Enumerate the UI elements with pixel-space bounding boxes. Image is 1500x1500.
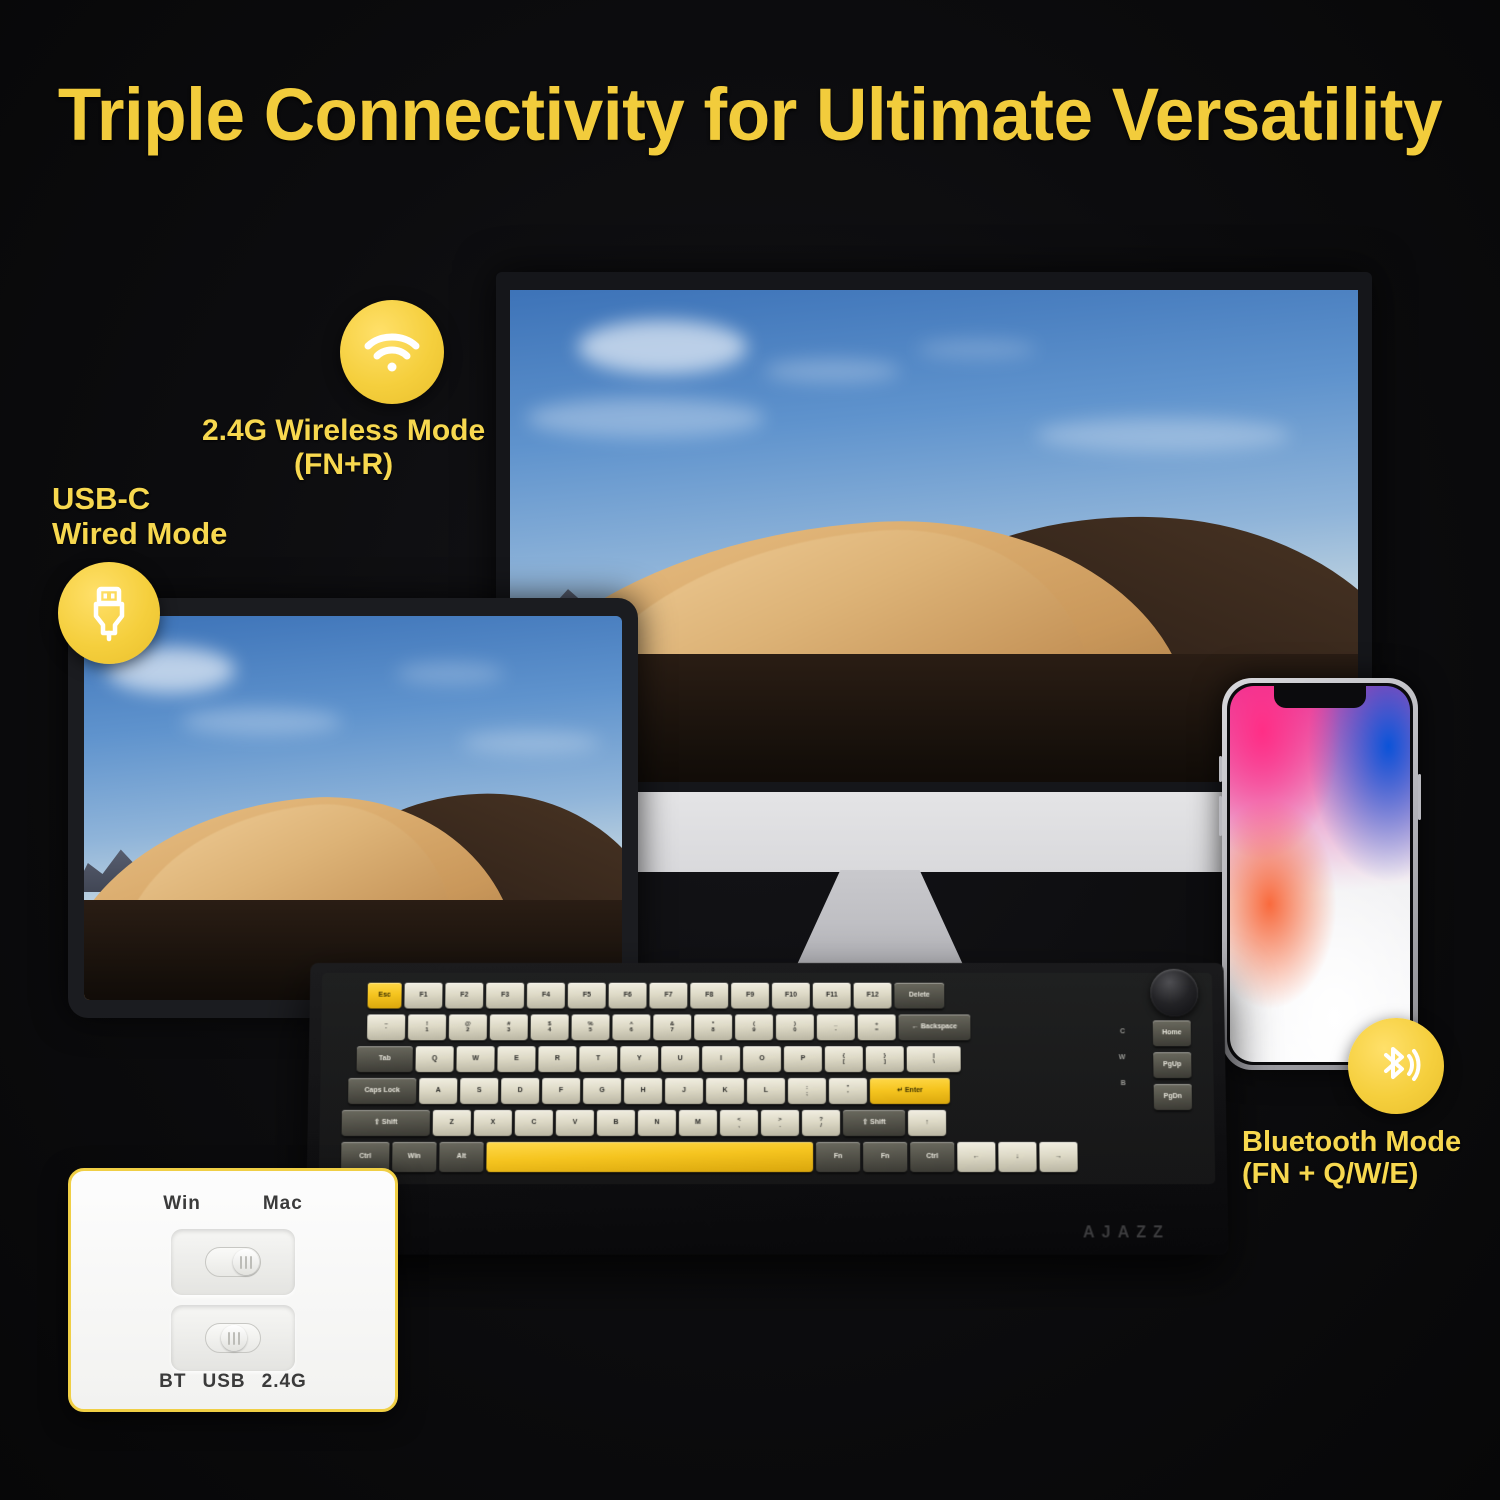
- phone-volume-up-button: [1219, 756, 1222, 782]
- phone-volume-down-button: [1219, 796, 1222, 836]
- bluetooth-mode-label: Bluetooth Mode (FN + Q/W/E): [1242, 1126, 1461, 1191]
- key-key[interactable]: _-: [817, 1014, 855, 1040]
- keyboard-brand-logo: AJAZZ: [1083, 1224, 1170, 1242]
- key-key[interactable]: →: [1039, 1142, 1077, 1172]
- key-q[interactable]: Q: [415, 1046, 453, 1072]
- connection-switch-slot: [205, 1323, 261, 1353]
- key-shift[interactable]: ⇧ Shift: [342, 1110, 430, 1136]
- infographic-canvas: Triple Connectivity for Ultimate Versati…: [0, 0, 1500, 1500]
- key-l[interactable]: L: [747, 1078, 785, 1104]
- keyboard-row-qwerty-row: TabQWERTYUIOP{[}]|\: [357, 1046, 961, 1072]
- key-f3[interactable]: F3: [486, 983, 524, 1009]
- key-key[interactable]: ↑: [908, 1110, 946, 1136]
- g24-label: 2.4G: [262, 1371, 307, 1393]
- key-f2[interactable]: F2: [445, 983, 483, 1009]
- key-key[interactable]: ~`: [367, 1014, 405, 1040]
- key-key[interactable]: }]: [866, 1046, 904, 1072]
- key-r[interactable]: R: [538, 1046, 576, 1072]
- key-j[interactable]: J: [665, 1078, 703, 1104]
- key-8[interactable]: *8: [694, 1014, 732, 1040]
- keyboard-row-function-row: EscF1F2F3F4F5F6F7F8F9F10F11F12Delete: [367, 983, 944, 1009]
- tablet: [68, 598, 638, 1018]
- win-label: Win: [163, 1193, 201, 1215]
- key-f6[interactable]: F6: [609, 983, 647, 1009]
- key-alt[interactable]: Alt: [439, 1142, 483, 1172]
- key-g[interactable]: G: [583, 1078, 621, 1104]
- phone-frame: [1222, 678, 1418, 1070]
- tablet-screen: [84, 616, 622, 1000]
- page-title: Triple Connectivity for Ultimate Versati…: [30, 72, 1470, 157]
- key-v[interactable]: V: [556, 1110, 594, 1136]
- key-f4[interactable]: F4: [527, 983, 565, 1009]
- keyboard-row-home-row: Caps LockASDFGHJKL:;"'↵ Enter: [348, 1078, 950, 1104]
- key-key[interactable]: ↓: [998, 1142, 1036, 1172]
- key-t[interactable]: T: [579, 1046, 617, 1072]
- key-9[interactable]: (9: [735, 1014, 773, 1040]
- key-f5[interactable]: F5: [568, 983, 606, 1009]
- key-0[interactable]: )0: [776, 1014, 814, 1040]
- wifi-mode-label: 2.4G Wireless Mode (FN+R): [202, 414, 485, 481]
- key-e[interactable]: E: [497, 1046, 535, 1072]
- keyboard-base: C W B AJAZZ EscF1F2F3F4F5F6F7F8F9F10F11F…: [305, 963, 1228, 1255]
- key-f7[interactable]: F7: [649, 983, 687, 1009]
- key-i[interactable]: I: [702, 1046, 740, 1072]
- key-key[interactable]: :;: [788, 1078, 826, 1104]
- key-h[interactable]: H: [624, 1078, 662, 1104]
- key-space[interactable]: [486, 1142, 813, 1172]
- bluetooth-icon: [1348, 1018, 1444, 1114]
- key-f12[interactable]: F12: [854, 983, 892, 1009]
- phone-power-button: [1418, 774, 1421, 820]
- connection-switch-nub[interactable]: [221, 1325, 247, 1351]
- connection-switch-captions: BT USB 2.4G: [71, 1371, 395, 1393]
- key-key[interactable]: ←: [957, 1142, 995, 1172]
- key-key[interactable]: {[: [825, 1046, 863, 1072]
- key-3[interactable]: #3: [490, 1014, 528, 1040]
- smartphone: [1222, 678, 1418, 1070]
- key-key[interactable]: <,: [720, 1110, 758, 1136]
- usbc-mode-label: USB-C Wired Mode: [52, 482, 227, 551]
- key-win[interactable]: Win: [392, 1142, 436, 1172]
- os-switch[interactable]: [171, 1229, 295, 1295]
- key-f8[interactable]: F8: [690, 983, 728, 1009]
- os-switch-captions: Win Mac: [71, 1193, 395, 1215]
- key-y[interactable]: Y: [620, 1046, 658, 1072]
- key-b[interactable]: B: [597, 1110, 635, 1136]
- key-2[interactable]: @2: [449, 1014, 487, 1040]
- key-a[interactable]: A: [419, 1078, 457, 1104]
- keyboard-row-bottom-row: CtrlWinAltFnFnCtrl←↓→: [341, 1142, 1078, 1172]
- key-pgdn[interactable]: PgDn: [1154, 1084, 1192, 1110]
- mojave-wallpaper: [84, 616, 622, 1000]
- key-caps-lock[interactable]: Caps Lock: [348, 1078, 416, 1104]
- key-d[interactable]: D: [501, 1078, 539, 1104]
- key-f11[interactable]: F11: [813, 983, 851, 1009]
- key-z[interactable]: Z: [433, 1110, 471, 1136]
- key-enter[interactable]: ↵ Enter: [870, 1078, 950, 1104]
- key-ctrl[interactable]: Ctrl: [910, 1142, 954, 1172]
- key-o[interactable]: O: [743, 1046, 781, 1072]
- usb-label: USB: [203, 1371, 246, 1393]
- key-p[interactable]: P: [784, 1046, 822, 1072]
- phone-notch: [1274, 686, 1366, 708]
- key-m[interactable]: M: [679, 1110, 717, 1136]
- key-delete[interactable]: Delete: [894, 983, 944, 1009]
- key-4[interactable]: $4: [531, 1014, 569, 1040]
- led-indicator-b: B: [1121, 1080, 1126, 1087]
- key-key[interactable]: |\: [907, 1046, 961, 1072]
- key-shift[interactable]: ⇧ Shift: [843, 1110, 905, 1136]
- os-switch-nub[interactable]: [233, 1249, 259, 1275]
- key-f10[interactable]: F10: [772, 983, 810, 1009]
- key-f[interactable]: F: [542, 1078, 580, 1104]
- key-tab[interactable]: Tab: [357, 1046, 413, 1072]
- os-switch-slot: [205, 1247, 261, 1277]
- key-backspace[interactable]: ← Backspace: [899, 1014, 971, 1040]
- key-fn[interactable]: Fn: [863, 1142, 907, 1172]
- bt-label: BT: [159, 1371, 186, 1393]
- usb-icon: [58, 562, 160, 664]
- key-key[interactable]: >.: [761, 1110, 799, 1136]
- key-x[interactable]: X: [474, 1110, 512, 1136]
- volume-knob[interactable]: [1150, 969, 1199, 1017]
- key-7[interactable]: &7: [653, 1014, 691, 1040]
- key-fn[interactable]: Fn: [816, 1142, 860, 1172]
- mac-label: Mac: [263, 1193, 303, 1215]
- keyboard-row-shift-row: ⇧ ShiftZXCVBNM<,>.?/⇧ Shift↑: [342, 1110, 947, 1136]
- key-5[interactable]: %5: [571, 1014, 609, 1040]
- wifi-icon: [340, 300, 444, 404]
- key-c[interactable]: C: [515, 1110, 553, 1136]
- phone-screen: [1230, 686, 1410, 1062]
- key-s[interactable]: S: [460, 1078, 498, 1104]
- key-f1[interactable]: F1: [404, 983, 442, 1009]
- key-k[interactable]: K: [706, 1078, 744, 1104]
- keyboard-row-number-row: ~`!1@2#3$4%5^6&7*8(9)0_-+=← Backspace: [367, 1014, 970, 1040]
- led-indicator-w: W: [1119, 1054, 1126, 1061]
- key-pgup[interactable]: PgUp: [1153, 1052, 1191, 1078]
- key-1[interactable]: !1: [408, 1014, 446, 1040]
- led-indicator-c: C: [1120, 1028, 1125, 1035]
- connection-switch[interactable]: [171, 1305, 295, 1371]
- key-key[interactable]: "': [829, 1078, 867, 1104]
- tablet-bezel: [68, 598, 638, 1018]
- key-key[interactable]: +=: [858, 1014, 896, 1040]
- key-key[interactable]: ?/: [802, 1110, 840, 1136]
- key-home[interactable]: Home: [1153, 1020, 1191, 1046]
- key-n[interactable]: N: [638, 1110, 676, 1136]
- mechanical-keyboard: C W B AJAZZ EscF1F2F3F4F5F6F7F8F9F10F11F…: [308, 962, 1226, 1254]
- key-6[interactable]: ^6: [612, 1014, 650, 1040]
- key-f9[interactable]: F9: [731, 983, 769, 1009]
- key-u[interactable]: U: [661, 1046, 699, 1072]
- key-esc[interactable]: Esc: [367, 983, 401, 1009]
- mode-switch-panel: Win Mac BT USB 2.4G: [68, 1168, 398, 1412]
- key-w[interactable]: W: [456, 1046, 494, 1072]
